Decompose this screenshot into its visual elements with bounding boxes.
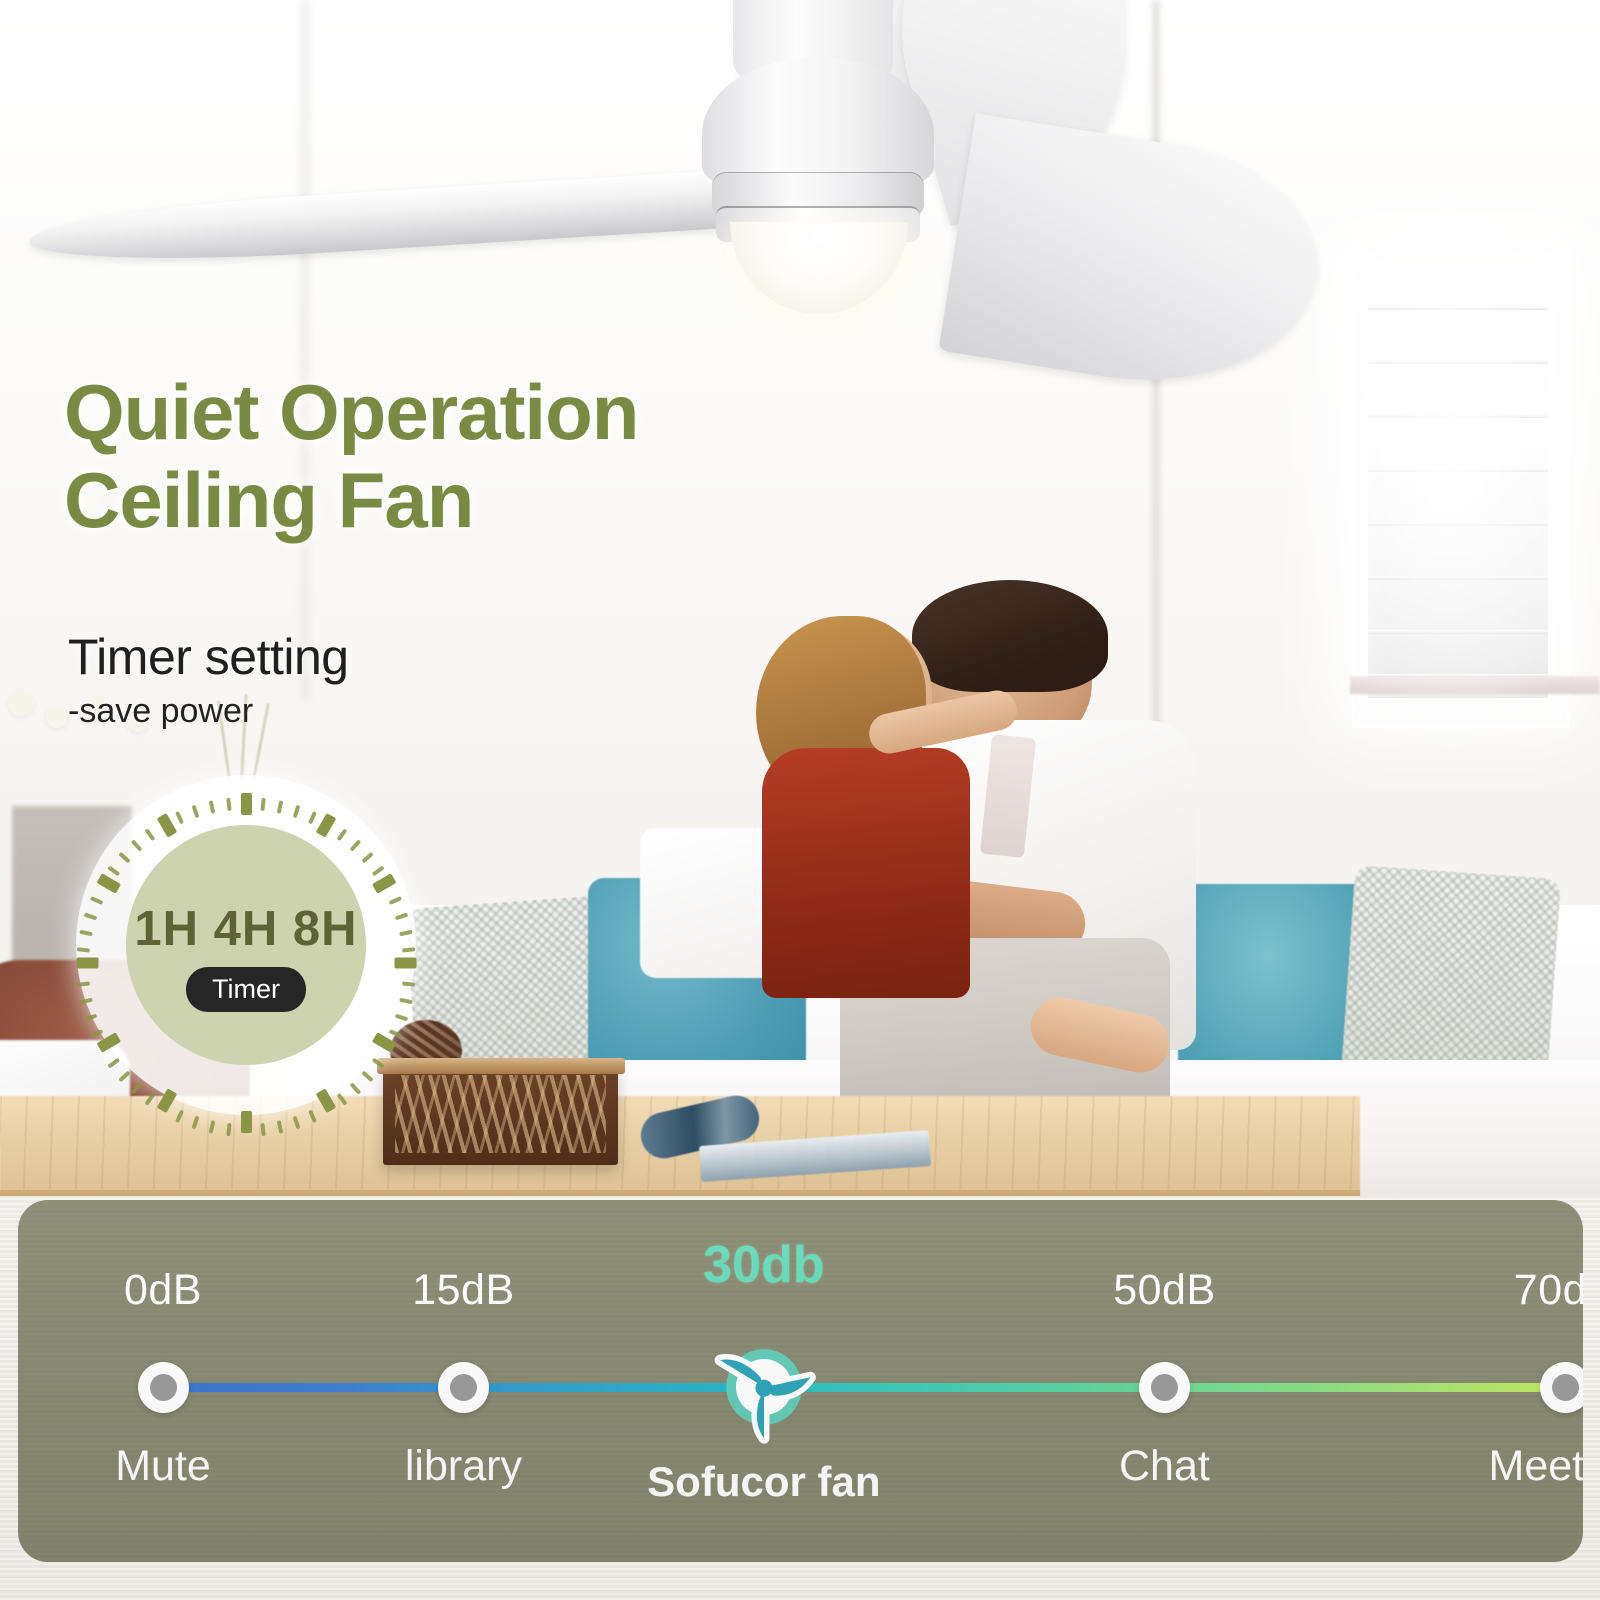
fan-blade-icon xyxy=(703,1326,825,1448)
fan-led-light xyxy=(730,222,908,314)
noise-value-label: 50dB xyxy=(1113,1266,1215,1315)
fan-blade-left xyxy=(28,170,730,271)
fan-blade-right xyxy=(938,113,1331,406)
dial-tick-minor xyxy=(337,1093,348,1106)
dial-tick-minor xyxy=(372,865,385,876)
dial-tick-minor xyxy=(175,811,184,825)
dial-tick-minor xyxy=(337,828,348,841)
dial-tick-minor xyxy=(118,852,130,864)
dial-tick-minor xyxy=(293,805,301,819)
dial-tick-minor xyxy=(395,1014,409,1022)
timer-hours-label: 1H 4H 8H xyxy=(126,901,366,957)
dial-tick-major xyxy=(156,1088,177,1113)
noise-scene-label: Meeting xyxy=(1489,1442,1583,1491)
dial-tick-major xyxy=(315,1088,336,1113)
noise-value-label: 15dB xyxy=(412,1266,514,1315)
carved-wooden-box xyxy=(383,1065,618,1165)
node-dot xyxy=(150,1374,177,1401)
timer-badge: Timer xyxy=(186,967,306,1012)
noise-scene-label: Mute xyxy=(115,1442,211,1491)
product-feature-image: Quiet Operation Ceiling Fan Timer settin… xyxy=(0,0,1600,1600)
dial-tick-minor xyxy=(84,913,98,921)
dial-tick-minor xyxy=(79,998,93,1005)
noise-scene-label: library xyxy=(405,1442,522,1491)
dial-tick-major xyxy=(241,793,252,815)
noise-value-label: 0dB xyxy=(124,1266,202,1315)
dial-tick-major xyxy=(96,1032,121,1053)
dial-tick-minor xyxy=(79,930,93,937)
dial-tick-minor xyxy=(77,947,90,952)
dial-tick-minor xyxy=(361,1071,373,1083)
dial-tick-minor xyxy=(361,852,373,864)
dial-tick-minor xyxy=(107,1058,120,1069)
dial-tick-minor xyxy=(192,805,200,819)
page-title: Quiet Operation Ceiling Fan xyxy=(64,368,638,544)
noise-scale-node[interactable] xyxy=(1540,1362,1583,1413)
feature-title: Timer setting xyxy=(68,628,349,686)
dial-tick-minor xyxy=(402,981,415,986)
feature-subtitle: -save power xyxy=(68,692,253,731)
dial-tick-minor xyxy=(372,1058,385,1069)
dial-tick-minor xyxy=(260,798,265,811)
pillow-knit-right xyxy=(1341,865,1561,1089)
noise-scene-label: Chat xyxy=(1119,1442,1210,1491)
dial-tick-minor xyxy=(389,896,403,905)
dial-tick-minor xyxy=(389,1029,403,1038)
dial-tick-minor xyxy=(350,839,362,851)
dial-tick-minor xyxy=(77,981,90,986)
pom-pom-light xyxy=(46,706,68,728)
dial-tick-minor xyxy=(107,865,120,876)
timer-dial: 1H 4H 8H Timer xyxy=(76,775,416,1115)
dial-tick-minor xyxy=(118,1071,130,1083)
dial-tick-minor xyxy=(131,839,143,851)
noise-scene-highlight: Sofucor fan xyxy=(647,1458,880,1506)
dial-tick-minor xyxy=(144,828,155,841)
node-dot xyxy=(450,1374,477,1401)
noise-value-label: 70dB xyxy=(1514,1266,1583,1315)
dial-tick-minor xyxy=(395,913,409,921)
dial-tick-minor xyxy=(226,798,231,811)
noise-scale-node[interactable] xyxy=(1139,1362,1190,1413)
window-sill xyxy=(1350,676,1600,694)
dial-tick-major xyxy=(371,873,396,894)
dial-tick-major xyxy=(241,1111,252,1133)
dial-tick-major xyxy=(156,813,177,838)
dial-tick-major xyxy=(76,958,98,969)
dial-tick-minor xyxy=(144,1093,155,1106)
dial-tick-minor xyxy=(209,800,216,814)
node-dot xyxy=(1151,1374,1178,1401)
noise-comparison-panel: 0dBMute15dBlibrary30dbSofucor fan50dBCha… xyxy=(18,1200,1583,1562)
dial-tick-minor xyxy=(402,947,415,952)
dial-tick-minor xyxy=(399,930,413,937)
dial-tick-minor xyxy=(90,1029,104,1038)
dial-tick-minor xyxy=(308,811,317,825)
pom-pom-light xyxy=(8,690,34,716)
dial-tick-minor xyxy=(84,1014,98,1022)
noise-scale-node[interactable] xyxy=(438,1362,489,1413)
dial-tick-minor xyxy=(350,1082,362,1094)
dial-tick-minor xyxy=(90,896,104,905)
timer-dial-face: 1H 4H 8H Timer xyxy=(126,825,366,1065)
dial-tick-major xyxy=(315,813,336,838)
dial-tick-minor xyxy=(131,1082,143,1094)
dial-tick-major xyxy=(96,873,121,894)
noise-scale-node[interactable] xyxy=(138,1362,189,1413)
dial-tick-major xyxy=(371,1032,396,1053)
dial-tick-major xyxy=(394,958,416,969)
noise-value-highlight: 30db xyxy=(703,1235,824,1295)
noise-scale-track xyxy=(145,1383,1582,1392)
dial-tick-minor xyxy=(277,800,284,814)
node-dot xyxy=(1552,1374,1579,1401)
ceiling-fan-product xyxy=(0,0,1600,420)
dial-tick-minor xyxy=(399,998,413,1005)
